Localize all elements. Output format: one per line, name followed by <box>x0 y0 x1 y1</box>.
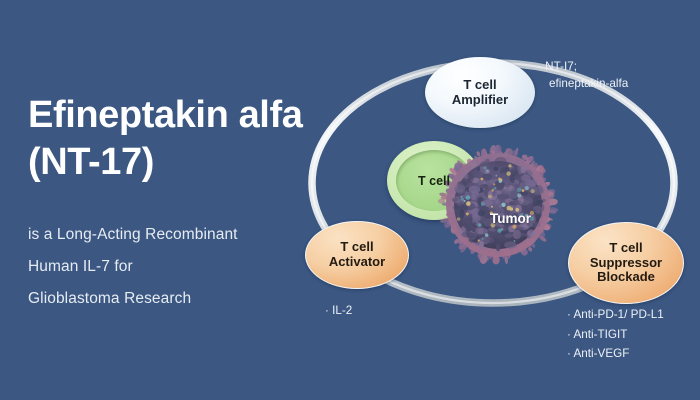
node-amplifier-label: T cell Amplifier <box>452 78 508 107</box>
tumor-cell: Tumor <box>430 133 566 275</box>
annotation-suppressor-item-2: · Anti-TIGIT <box>567 325 664 345</box>
node-suppressor-label: T cell Suppressor Blockade <box>590 241 662 285</box>
annotation-suppressor-item-3: · Anti-VEGF <box>567 344 664 364</box>
annotation-amplifier-item-1: · NT-I7; <box>538 59 628 76</box>
node-activator-line-2: Activator <box>329 255 385 270</box>
tcell-label: T cell <box>418 174 450 188</box>
node-suppressor-line-1: T cell <box>590 241 662 256</box>
node-suppressor-line-3: Blockade <box>590 270 662 285</box>
infographic-canvas: Efineptakin alfa (NT-17) is a Long-Actin… <box>0 0 700 400</box>
node-tcell-suppressor-blockade[interactable]: T cell Suppressor Blockade <box>568 222 684 304</box>
node-amplifier-line-1: T cell <box>452 78 508 93</box>
annotation-amplifier-item-2: efineptakin-alfa <box>538 76 628 93</box>
tumor-label: Tumor <box>490 211 531 226</box>
annotation-suppressor-item-1: · Anti-PD-1/ PD-L1 <box>567 305 664 325</box>
node-amplifier-line-2: Amplifier <box>452 93 508 108</box>
node-activator-label: T cell Activator <box>329 240 385 269</box>
annotation-activator: · IL-2 <box>325 303 352 320</box>
annotation-suppressor: · Anti-PD-1/ PD-L1 · Anti-TIGIT · Anti-V… <box>567 305 664 364</box>
node-activator-line-1: T cell <box>329 240 385 255</box>
tumor-graphic <box>430 133 566 275</box>
node-tcell-activator[interactable]: T cell Activator <box>305 221 409 289</box>
annotation-activator-item-1: · IL-2 <box>325 303 352 320</box>
node-suppressor-line-2: Suppressor <box>590 256 662 271</box>
annotation-amplifier: · NT-I7; efineptakin-alfa <box>538 59 628 92</box>
node-tcell-amplifier[interactable]: T cell Amplifier <box>425 57 535 128</box>
